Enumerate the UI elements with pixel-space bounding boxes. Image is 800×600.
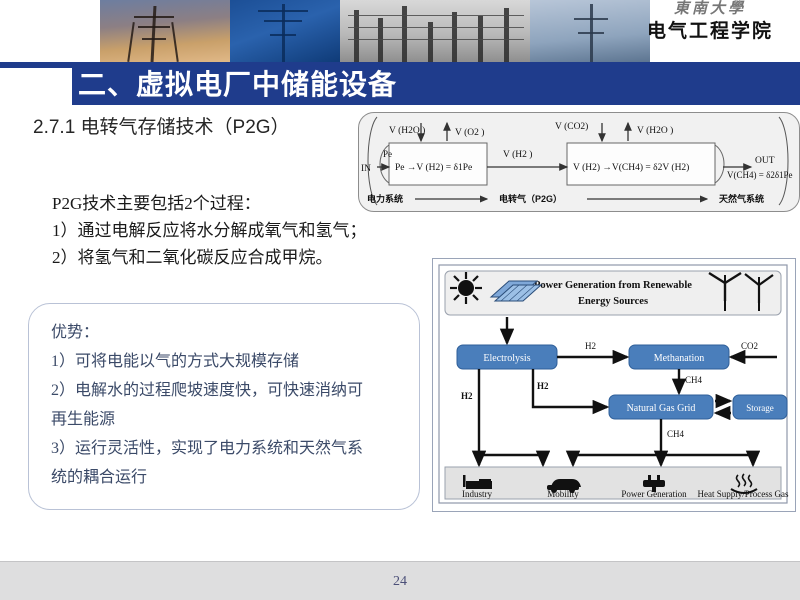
- logo-university-name: 東南大學: [630, 2, 790, 17]
- university-logo: 東南大學 电气工程学院: [630, 2, 790, 41]
- node-natural-gas-grid-label: Natural Gas Grid: [627, 403, 696, 414]
- label-h2-left: H2: [461, 391, 473, 401]
- p2g-label-h2o-out: V (H2O ): [637, 125, 673, 136]
- label-ch4-out: CH4: [667, 429, 685, 439]
- page-title: 二、虚拟电厂中储能设备: [78, 66, 397, 104]
- renewable-energy-diagram: Power Generation from Renewable Energy S…: [432, 258, 796, 512]
- p2g-label-h2-mid: V (H2 ): [503, 149, 532, 160]
- advantages-box: 优势： 1）可将电能以气的方式大规模存储 2）电解水的过程爬坡速度快，可快速消纳…: [28, 303, 420, 510]
- advantage-line-4: 3）运行灵活性，实现了电力系统和天然气系: [51, 434, 399, 463]
- node-methanation-label: Methanation: [654, 353, 705, 364]
- advantages-heading: 优势：: [51, 318, 399, 347]
- advantage-line-1: 1）可将电能以气的方式大规模存储: [51, 347, 399, 376]
- node-storage-label: Storage: [746, 403, 774, 413]
- body-step-2: 2）将氢气和二氧化碳反应合成甲烷。: [52, 244, 432, 271]
- p2g-label-in: IN: [361, 164, 371, 174]
- p2g-label-pe-in: Pe: [383, 149, 392, 159]
- label-h2-to-methanation: H2: [585, 341, 596, 351]
- p2g-capsule-right: [779, 117, 788, 205]
- section-subtitle: 2.7.1 电转气存储技术（P2G）: [33, 112, 290, 139]
- p2g-label-o2-out: V (O2 ): [455, 127, 484, 138]
- photo-transmission-tower-sunset: [100, 0, 230, 62]
- p2g-label-out: OUT: [755, 156, 775, 166]
- advantage-line-3: 再生能源: [51, 405, 399, 434]
- label-h2-mid: H2: [537, 381, 549, 391]
- photo-substation-equipment: [340, 0, 530, 62]
- title-band-notch: [0, 68, 72, 105]
- p2g-capsule-left: [368, 117, 377, 205]
- sun-icon: [450, 272, 482, 304]
- label-co2-input: CO2: [741, 341, 758, 351]
- label-ch4-down: CH4: [685, 375, 703, 385]
- consumer-label-industry: Industry: [462, 489, 492, 499]
- renewable-banner-line-1: Power Generation from Renewable: [534, 280, 692, 291]
- consumer-label-power-generation: Power Generation: [621, 489, 687, 499]
- p2g-bottom-label-power-system: 电力系统: [367, 193, 403, 204]
- node-electrolysis-label: Electrolysis: [483, 353, 530, 364]
- consumer-label-heat-supply: Heat Supply/Process Gas: [698, 489, 789, 499]
- renewable-banner-line-2: Energy Sources: [578, 296, 648, 307]
- logo-department-name: 电气工程学院: [630, 22, 790, 41]
- p2g-formula-stage2: V (H2) →V(CH4) = δ2V (H2): [573, 162, 689, 173]
- p2g-label-h2o-in: V (H2O ): [389, 125, 425, 136]
- p2g-bottom-label-p2g: 电转气（P2G）: [499, 193, 562, 204]
- advantage-line-2: 2）电解水的过程爬坡速度快，可快速消纳可: [51, 376, 399, 405]
- page-number: 24: [0, 574, 800, 590]
- consumer-label-mobility: Mobility: [547, 489, 579, 499]
- p2g-label-co2-in: V (CO2): [555, 121, 588, 132]
- photo-transmission-tower-blue-sky: [230, 0, 340, 62]
- p2g-formula-stage1: Pe →V (H2) = δ1Pe: [395, 162, 472, 173]
- slide: 東南大學 电气工程学院 二、虚拟电厂中储能设备 2.7.1 电转气存储技术（P2…: [0, 0, 800, 600]
- p2g-formula-out: V(CH4) = δ2δ1Pe: [727, 170, 793, 180]
- advantage-line-5: 统的耦合运行: [51, 463, 399, 492]
- p2g-bottom-label-gas-system: 天然气系统: [719, 193, 764, 204]
- p2g-formula-diagram: V (H2O ) V (O2 ) V (CO2) V (H2O ) IN Pe …: [358, 112, 800, 212]
- body-step-1: 1）通过电解反应将水分解成氧气和氢气；: [52, 217, 432, 244]
